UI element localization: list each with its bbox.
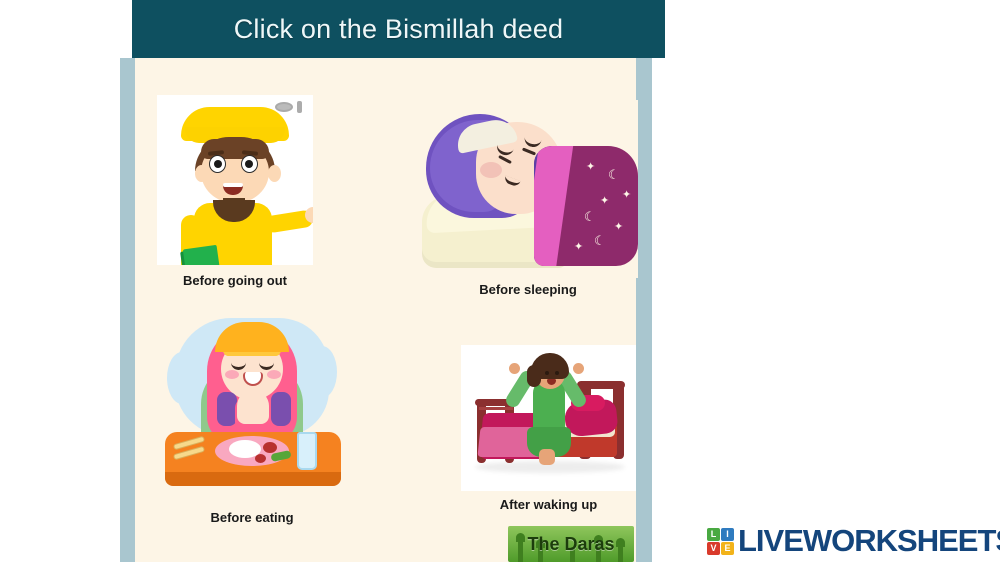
praying-hands <box>237 390 269 424</box>
worksheet-title: Click on the Bismillah deed <box>234 14 564 45</box>
girl-hair-side <box>527 365 541 387</box>
bed-headboard-rail <box>577 381 625 389</box>
girl-eye-right <box>555 371 559 375</box>
table-edge <box>165 472 341 486</box>
liveworksheets-wordmark: LIVEWORKSHEETS <box>738 523 1000 559</box>
item-caption: Before going out <box>157 273 313 288</box>
blanket-star-icon: ✦ <box>574 242 583 253</box>
girl-legs <box>539 449 555 465</box>
boy-ear-right <box>268 165 281 182</box>
item-caption: Before sleeping <box>418 282 638 297</box>
worksheet-right-frame <box>636 58 652 562</box>
blanket-star-icon: ✦ <box>586 162 595 173</box>
girl-praying-at-table-icon[interactable] <box>163 312 341 504</box>
worksheet-left-frame <box>120 58 135 562</box>
live-square-e: E <box>721 542 734 555</box>
screenshot-root: Click on the Bismillah deed <box>0 0 1000 562</box>
worksheet-item-before-eating[interactable]: Before eating <box>163 312 341 525</box>
food-piece <box>263 442 277 453</box>
speaker-wave-shape <box>297 101 302 113</box>
boy-pupil-right <box>245 160 253 168</box>
eating-illustration <box>163 312 341 504</box>
blanket-star-icon: ✦ <box>622 190 631 201</box>
girl-hand-right <box>573 363 584 374</box>
girl-cheek <box>480 162 502 178</box>
waking-illustration <box>461 345 636 491</box>
background-cloud-left <box>167 352 197 404</box>
live-square-v: V <box>707 542 720 555</box>
food-piece <box>255 454 266 463</box>
water-glass <box>297 432 317 470</box>
boy-illustration <box>157 95 313 265</box>
girl-arm-left <box>217 392 237 426</box>
boy-book <box>183 245 221 265</box>
boy-walking-out-icon[interactable] <box>157 95 313 265</box>
liveworksheets-logo[interactable]: L I V E LIVEWORKSHEETS <box>707 522 1000 560</box>
item-caption: Before eating <box>163 510 341 525</box>
girl-eye-left <box>545 371 549 375</box>
the-daras-label: The Daras <box>508 526 634 562</box>
boy-pupil-left <box>214 160 222 168</box>
blanket-moon-icon: ☾ <box>594 234 606 247</box>
background-cloud-right <box>307 346 337 398</box>
bed-footboard-slat <box>479 407 513 410</box>
worksheet-item-before-sleeping[interactable]: ✦ ☾ ✦ ✦ ☾ ✦ ☾ ✦ Before sleeping <box>418 100 638 297</box>
speaker-body-shape <box>275 102 293 112</box>
blanket-moon-icon: ☾ <box>608 168 620 181</box>
girl-arm-right <box>271 392 291 426</box>
worksheet-item-after-waking-up[interactable]: After waking up <box>461 345 636 512</box>
girl-blush-right <box>267 370 281 379</box>
live-squares-icon: L I V E <box>707 528 734 555</box>
girl-sleeping-icon[interactable]: ✦ ☾ ✦ ✦ ☾ ✦ ☾ ✦ <box>418 100 638 278</box>
audio-speaker-icon <box>275 100 305 113</box>
live-square-i: I <box>721 528 734 541</box>
girl-hand-left <box>509 363 520 374</box>
worksheet-header: Click on the Bismillah deed <box>132 0 665 58</box>
blanket-moon-icon: ☾ <box>584 210 596 223</box>
girl-blush-left <box>225 370 239 379</box>
worksheet-item-before-going-out[interactable]: Before going out <box>157 95 313 288</box>
sleeping-illustration: ✦ ☾ ✦ ✦ ☾ ✦ ☾ ✦ <box>418 100 638 278</box>
boy-teeth <box>223 183 243 187</box>
blanket-star-icon: ✦ <box>600 196 609 207</box>
blanket-band-pink <box>534 146 574 266</box>
item-caption: After waking up <box>461 497 636 512</box>
blanket-star-icon: ✦ <box>614 222 623 233</box>
the-daras-badge[interactable]: The Daras <box>508 526 634 562</box>
blanket: ✦ ☾ ✦ ✦ ☾ ✦ ☾ ✦ <box>534 146 638 266</box>
live-square-l: L <box>707 528 720 541</box>
girl-stretching-in-bed-icon[interactable] <box>461 345 636 491</box>
